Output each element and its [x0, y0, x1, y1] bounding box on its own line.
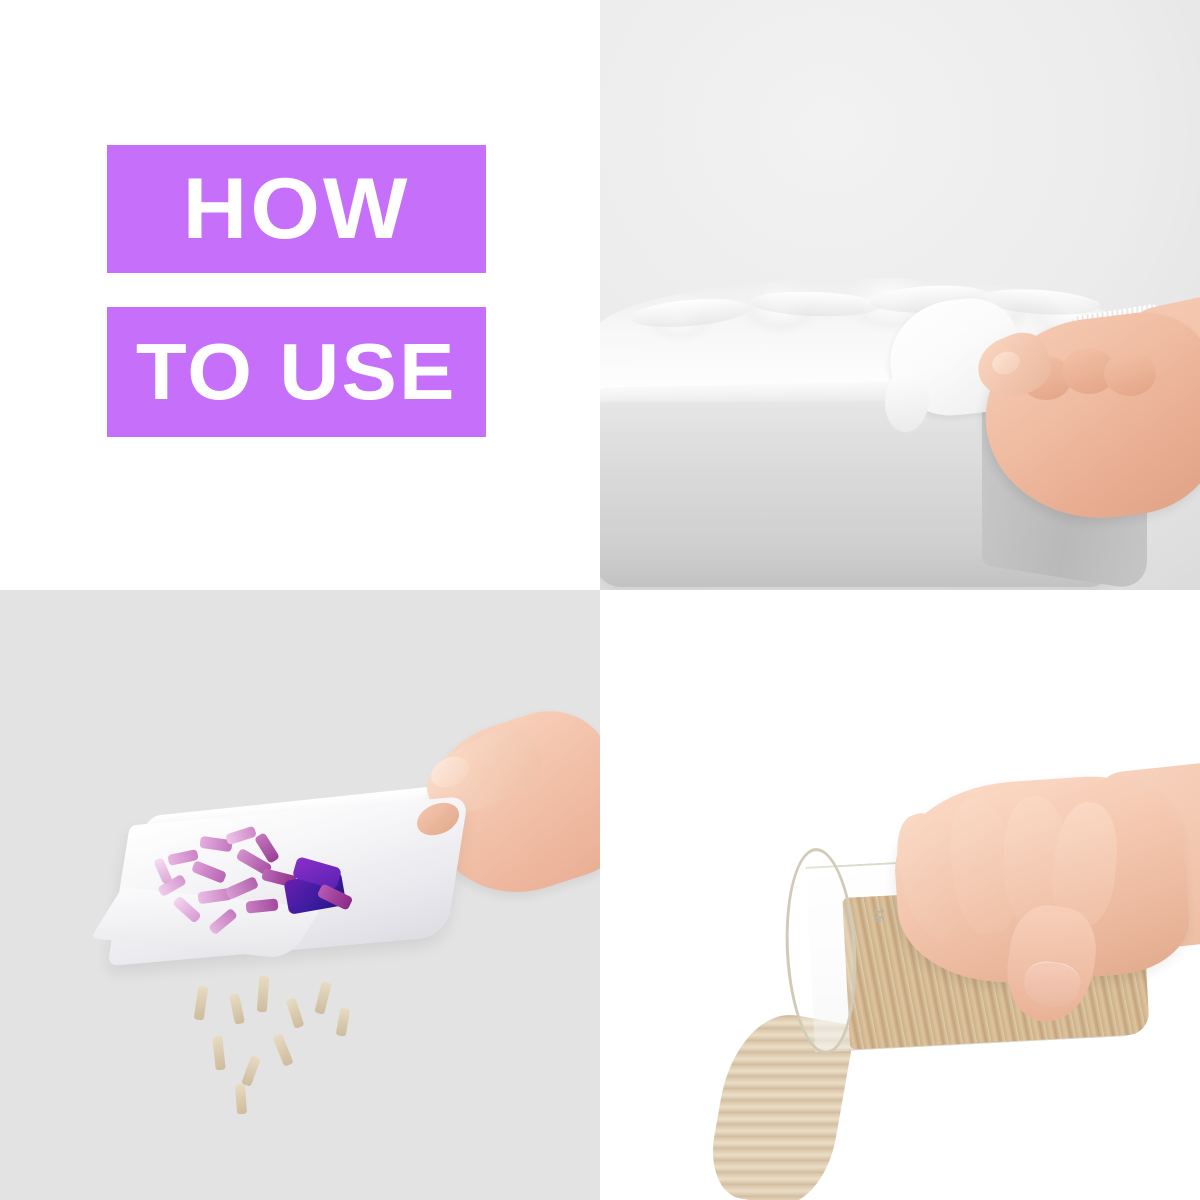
falling-pellet: [286, 997, 305, 1029]
step-1-photo: [600, 0, 1200, 590]
knuckle: [1104, 352, 1156, 396]
falling-pellet: [212, 1036, 225, 1071]
step-3-panel: 15 10 5 STEP 3 Top it up! Keep litter at…: [600, 590, 1200, 1200]
falling-pellet: [194, 985, 209, 1020]
falling-pellet: [257, 976, 269, 1013]
step-2-photo: [0, 590, 600, 1200]
banner-how: HOW: [107, 145, 486, 273]
falling-pellet: [235, 1084, 247, 1115]
how-to-use-infographic: HOW TO USE STEP 1: [0, 0, 1200, 1200]
step-1-panel: STEP 1 Line it up Place a Wee Kitty® Lin…: [600, 0, 1200, 590]
falling-pellet: [314, 981, 331, 1014]
falling-pellet: [272, 1033, 293, 1066]
step-3-photo: 15 10 5: [600, 590, 1200, 1200]
banner-to-use: TO USE: [107, 307, 486, 437]
step-2-panel: STEP 2 Scoop & flush Remove solid clumps…: [0, 590, 600, 1200]
cup-mark-15: 15: [872, 908, 887, 923]
title-panel: HOW TO USE: [0, 0, 600, 590]
falling-pellet: [336, 1007, 351, 1036]
banner-how-text: HOW: [183, 167, 411, 251]
falling-pellet: [229, 993, 245, 1024]
falling-pellet: [241, 1055, 261, 1087]
banner-to-use-text: TO USE: [136, 330, 457, 414]
